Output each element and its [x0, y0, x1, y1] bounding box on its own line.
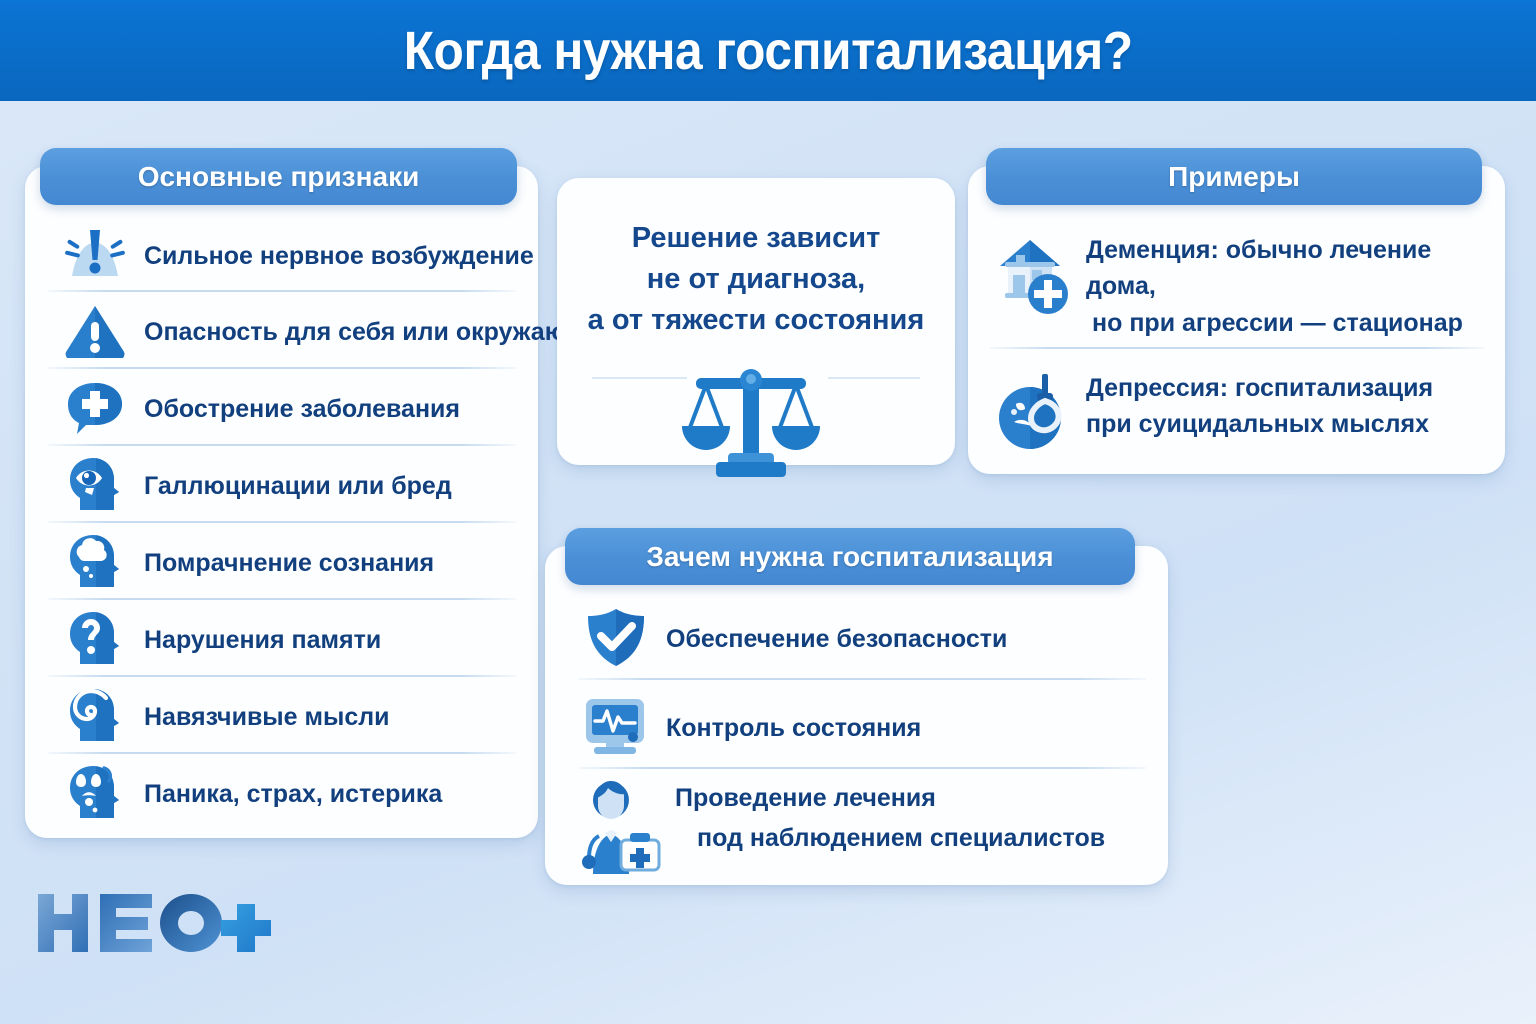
warning-triangle-icon: [60, 302, 130, 363]
why-panel-header: Зачем нужна госпитализация: [565, 528, 1135, 585]
list-item-label: Навязчивые мысли: [144, 702, 390, 733]
example-detail-line2: но при агрессии — стационар: [1086, 309, 1463, 337]
statement-line-2: не от диагноза,: [567, 259, 945, 300]
list-item[interactable]: Обострение заболевания: [60, 381, 520, 437]
list-item[interactable]: Навязчивые мысли: [60, 689, 520, 745]
example-detail: госпитализация: [1228, 374, 1433, 402]
why-item-line2: под наблюдением специалистов: [675, 824, 1105, 852]
list-item[interactable]: Паника, страх, истерика: [60, 766, 520, 822]
list-item-label: Проведение лечения под наблюдением специ…: [675, 778, 1105, 858]
signs-panel-header: Основные признаки: [40, 148, 517, 205]
page-title: Когда нужна госпитализация?: [404, 20, 1133, 82]
list-item-label: Контроль состояния: [666, 713, 921, 744]
example-term: Деменция:: [1086, 236, 1219, 264]
head-question-icon: [60, 610, 130, 671]
list-item[interactable]: Депрессия: госпитализация при суицидальн…: [992, 366, 1492, 458]
list-item-label: Помрачнение сознания: [144, 548, 434, 579]
signs-panel-title: Основные признаки: [138, 161, 420, 193]
example-term: Депрессия:: [1086, 374, 1228, 402]
list-item[interactable]: Деменция: обычно лечение дома, но при аг…: [992, 228, 1492, 320]
list-item-label: Депрессия: госпитализация при суицидальн…: [1086, 366, 1433, 443]
row-divider: [48, 598, 516, 600]
examples-panel-header: Примеры: [986, 148, 1482, 205]
heart-monitor-icon: [580, 695, 652, 762]
list-item-label: Деменция: обычно лечение дома, но при аг…: [1086, 228, 1492, 341]
row-divider: [48, 290, 516, 292]
statement-line-3: а от тяжести состояния: [567, 300, 945, 341]
list-item-label: Нарушения памяти: [144, 625, 381, 656]
statement-rule-left: [592, 377, 687, 379]
row-divider: [578, 678, 1146, 680]
list-item[interactable]: Помрачнение сознания: [60, 535, 520, 591]
balance-scales-icon: [676, 358, 826, 480]
statement-line-1: Решение зависит: [567, 218, 945, 259]
list-item[interactable]: Обеспечение безопасности: [580, 608, 1140, 670]
list-item[interactable]: Сильное нервное возбуждение: [60, 228, 520, 284]
statement-rule-right: [828, 377, 920, 379]
sad-face-noose-icon: [992, 368, 1072, 459]
row-divider: [48, 752, 516, 754]
list-item-label: Опасность для себя или окружающих: [144, 317, 616, 348]
list-item-label: Обеспечение безопасности: [666, 624, 1007, 655]
head-eye-icon: [60, 456, 130, 517]
doctor-bag-icon: [575, 778, 661, 879]
row-divider: [578, 767, 1146, 769]
example-detail-line2: при суицидальных мыслях: [1086, 410, 1429, 438]
head-cloud-icon: [60, 533, 130, 594]
list-item-label: Сильное нервное возбуждение: [144, 241, 534, 272]
neo-plus-logo: [32, 888, 272, 960]
list-item[interactable]: Нарушения памяти: [60, 612, 520, 668]
why-panel-title: Зачем нужна госпитализация: [646, 541, 1053, 573]
list-item[interactable]: Опасность для себя или окружающих: [60, 304, 520, 360]
list-item-label: Галлюцинации или бред: [144, 471, 452, 502]
row-divider: [48, 675, 516, 677]
house-medical-icon: [992, 230, 1072, 321]
list-item[interactable]: Проведение лечения под наблюдением специ…: [575, 778, 1145, 874]
list-item-label: Паника, страх, истерика: [144, 779, 442, 810]
row-divider: [48, 444, 516, 446]
why-item-line1: Проведение лечения: [675, 784, 936, 812]
row-divider: [48, 367, 516, 369]
row-divider: [990, 347, 1484, 349]
head-fear-icon: [60, 764, 130, 825]
exclamation-burst-icon: [60, 226, 130, 287]
list-item[interactable]: Галлюцинации или бред: [60, 458, 520, 514]
page-header: Когда нужна госпитализация?: [0, 0, 1536, 101]
list-item[interactable]: Контроль состояния: [580, 697, 1140, 759]
list-item-label: Обострение заболевания: [144, 394, 460, 425]
shield-check-icon: [580, 606, 652, 673]
statement-text: Решение зависит не от диагноза, а от тяж…: [567, 218, 945, 342]
row-divider: [48, 521, 516, 523]
examples-panel-title: Примеры: [1168, 161, 1300, 193]
head-spiral-icon: [60, 687, 130, 748]
medical-cross-bubble-icon: [60, 379, 130, 440]
